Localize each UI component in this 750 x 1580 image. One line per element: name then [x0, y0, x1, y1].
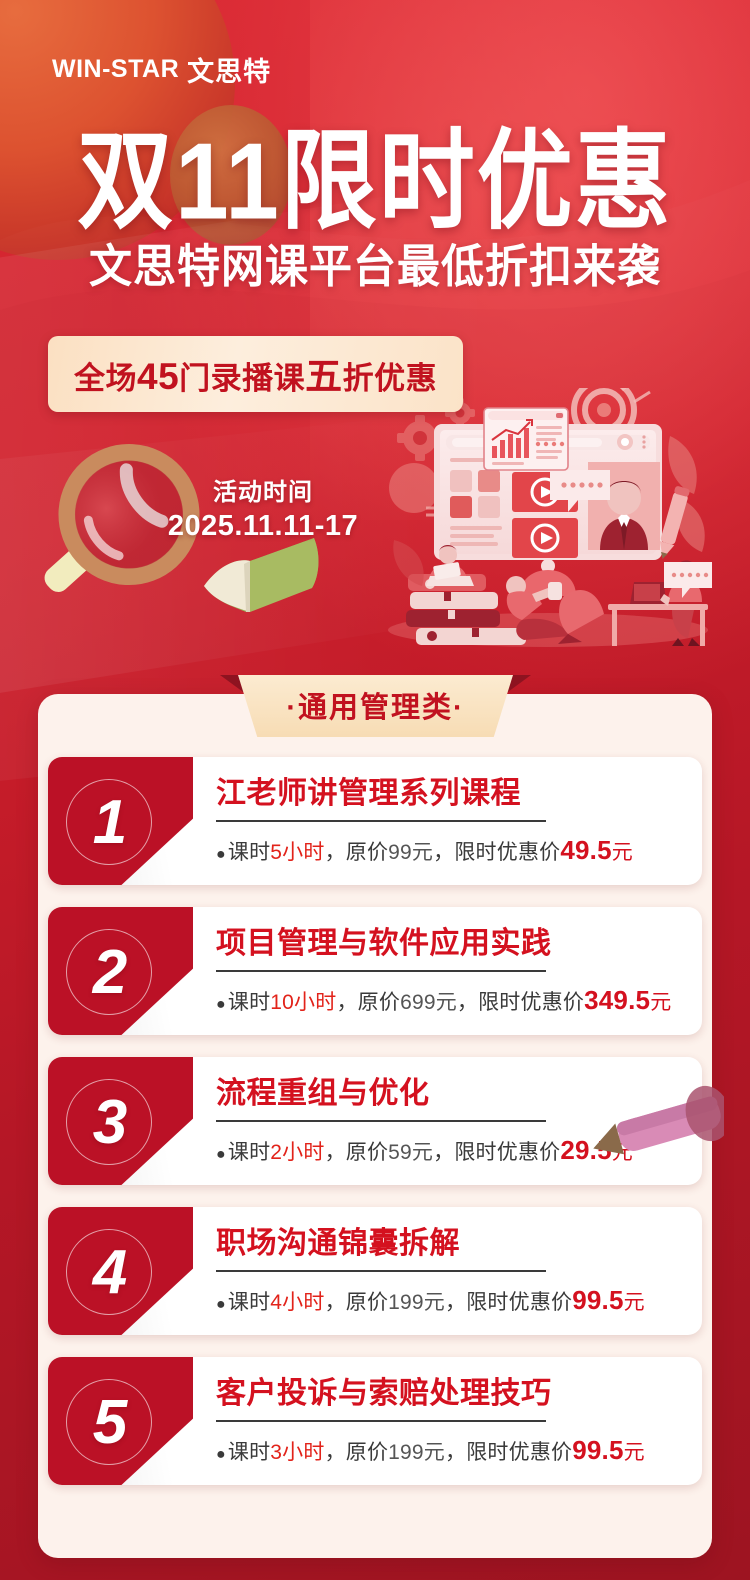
meta-hours: 3小时 [270, 1441, 324, 1464]
section-banner: ·通用管理类· [238, 675, 513, 737]
meta-original-price: 199元 [388, 1291, 445, 1314]
course-number: 1 [74, 781, 146, 863]
course-number-badge: 4 [48, 1207, 193, 1335]
course-number-badge: 5 [48, 1357, 193, 1485]
meta-hours: 2小时 [270, 1141, 324, 1164]
meta-sep2: ，限时优惠价 [433, 841, 560, 864]
meta-prefix: 课时 [228, 991, 270, 1014]
event-time-block: 活动时间 2025.11.11-17 [148, 472, 378, 543]
course-number-badge: 3 [48, 1057, 193, 1185]
course-content: 职场沟通锦囊拆解 ●课时4小时，原价199元，限时优惠价99.5元 [216, 1227, 680, 1316]
course-meta: ●课时4小时，原价199元，限时优惠价99.5元 [216, 1285, 680, 1316]
course-divider [216, 1270, 546, 1272]
meta-sep1: ，原价 [325, 1291, 389, 1314]
meta-sale-price: 349.5 [584, 985, 650, 1015]
meta-unit: 元 [612, 841, 633, 864]
course-number-badge: 2 [48, 907, 193, 1035]
meta-sale-price: 29.5 [560, 1135, 611, 1165]
course-number: 5 [74, 1381, 146, 1463]
course-card[interactable]: 5 客户投诉与索赔处理技巧 ●课时3小时，原价199元，限时优惠价99.5元 [48, 1357, 702, 1485]
meta-sale-price: 99.5 [572, 1435, 623, 1465]
meta-bullet: ● [216, 846, 226, 863]
event-time-label: 活动时间 [148, 472, 378, 507]
meta-unit: 元 [650, 991, 671, 1014]
meta-original-price: 199元 [388, 1441, 445, 1464]
course-number-badge: 1 [48, 757, 193, 885]
meta-sep2: ，限时优惠价 [457, 991, 584, 1014]
discount-pill: 全场45门录播课五折优惠 [48, 336, 463, 412]
meta-bullet: ● [216, 996, 226, 1013]
logo-cn-text: 文思特 [187, 50, 271, 89]
meta-prefix: 课时 [228, 1141, 270, 1164]
meta-original-price: 699元 [400, 991, 457, 1014]
course-meta: ●课时10小时，原价699元，限时优惠价349.5元 [216, 985, 680, 1016]
discount-pill-text: 全场45门录播课五折优惠 [74, 346, 437, 400]
meta-sep1: ，原价 [325, 1441, 389, 1464]
course-divider [216, 1120, 546, 1122]
course-card[interactable]: 1 江老师讲管理系列课程 ●课时5小时，原价99元，限时优惠价49.5元 [48, 757, 702, 885]
brand-logo: WIN-STAR 文思特 [52, 50, 271, 89]
course-card[interactable]: 3 流程重组与优化 ●课时2小时，原价59元，限时优惠价29.5元 [48, 1057, 702, 1185]
meta-sep2: ，限时优惠价 [445, 1291, 572, 1314]
meta-sep2: ，限时优惠价 [433, 1141, 560, 1164]
meta-hours: 4小时 [270, 1291, 324, 1314]
meta-prefix: 课时 [228, 1441, 270, 1464]
meta-sep2: ，限时优惠价 [445, 1441, 572, 1464]
pill-suffix: 折优惠 [343, 361, 438, 396]
pill-count: 45 [137, 356, 179, 397]
course-meta: ●课时5小时，原价99元，限时优惠价49.5元 [216, 835, 680, 866]
course-meta: ●课时3小时，原价199元，限时优惠价99.5元 [216, 1435, 680, 1466]
course-title: 江老师讲管理系列课程 [216, 777, 680, 810]
meta-prefix: 课时 [228, 1291, 270, 1314]
course-number: 2 [74, 931, 146, 1013]
meta-sale-price: 99.5 [572, 1285, 623, 1315]
meta-prefix: 课时 [228, 841, 270, 864]
meta-unit: 元 [624, 1441, 645, 1464]
meta-hours: 5小时 [270, 841, 324, 864]
course-title: 职场沟通锦囊拆解 [216, 1227, 680, 1260]
course-number: 3 [74, 1081, 146, 1163]
course-list: 1 江老师讲管理系列课程 ●课时5小时，原价99元，限时优惠价49.5元 2 项… [48, 757, 702, 1507]
pill-middle: 门录播课 [179, 361, 305, 396]
course-content: 项目管理与软件应用实践 ●课时10小时，原价699元，限时优惠价349.5元 [216, 927, 680, 1016]
headline-block: 双11限时优惠 文思特网课平台最低折扣来袭 [0, 128, 750, 289]
headline-subtitle: 文思特网课平台最低折扣来袭 [0, 245, 750, 291]
meta-original-price: 59元 [388, 1141, 433, 1164]
course-content: 江老师讲管理系列课程 ●课时5小时，原价99元，限时优惠价49.5元 [216, 777, 680, 866]
headline-main-title: 双11限时优惠 [0, 128, 750, 236]
course-content: 客户投诉与索赔处理技巧 ●课时3小时，原价199元，限时优惠价99.5元 [216, 1377, 680, 1466]
course-divider [216, 970, 546, 972]
course-meta: ●课时2小时，原价59元，限时优惠价29.5元 [216, 1135, 680, 1166]
meta-sep1: ，原价 [336, 991, 400, 1014]
course-divider [216, 1420, 546, 1422]
meta-hours: 10小时 [270, 991, 336, 1014]
course-title: 客户投诉与索赔处理技巧 [216, 1377, 680, 1410]
meta-bullet: ● [216, 1146, 226, 1163]
meta-bullet: ● [216, 1296, 226, 1313]
event-time-value: 2025.11.11-17 [148, 510, 378, 543]
course-content: 流程重组与优化 ●课时2小时，原价59元，限时优惠价29.5元 [216, 1077, 680, 1166]
meta-sep1: ，原价 [325, 841, 389, 864]
meta-bullet: ● [216, 1446, 226, 1463]
course-card[interactable]: 4 职场沟通锦囊拆解 ●课时4小时，原价199元，限时优惠价99.5元 [48, 1207, 702, 1335]
meta-sale-price: 49.5 [560, 835, 611, 865]
promo-poster: WIN-STAR 文思特 双11限时优惠 文思特网课平台最低折扣来袭 全场45门… [0, 0, 750, 1580]
course-card[interactable]: 2 项目管理与软件应用实践 ●课时10小时，原价699元，限时优惠价349.5元 [48, 907, 702, 1035]
section-banner-title: ·通用管理类· [238, 675, 513, 737]
pill-prefix: 全场 [74, 361, 137, 396]
pill-discount: 五 [305, 356, 343, 397]
meta-unit: 元 [612, 1141, 633, 1164]
meta-sep1: ，原价 [325, 1141, 389, 1164]
course-divider [216, 820, 546, 822]
online-learning-illustration [372, 388, 712, 650]
logo-en-text: WIN-STAR [52, 55, 179, 84]
course-number: 4 [74, 1231, 146, 1313]
course-title: 流程重组与优化 [216, 1077, 680, 1110]
course-title: 项目管理与软件应用实践 [216, 927, 680, 960]
meta-original-price: 99元 [388, 841, 433, 864]
meta-unit: 元 [624, 1291, 645, 1314]
